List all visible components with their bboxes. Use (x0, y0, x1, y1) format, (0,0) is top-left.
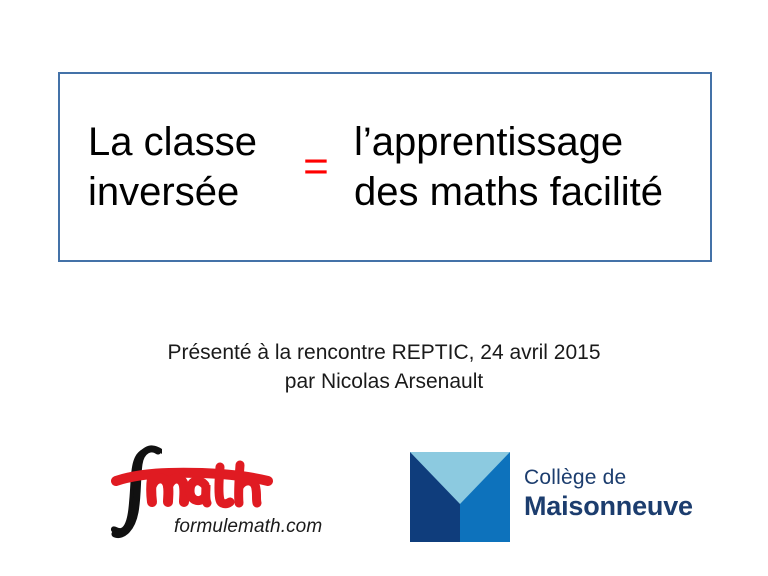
presentation-credit: Présenté à la rencontre REPTIC, 24 avril… (0, 338, 768, 396)
maisonneuve-line-2: Maisonneuve (524, 491, 724, 522)
equation-left-term: La classe inversée (88, 117, 288, 217)
formulemath-logo: formulemath.com (110, 445, 350, 560)
maisonneuve-line-1: Collège de (524, 465, 724, 491)
formulemath-url-label: formulemath.com (174, 515, 322, 539)
logo-row: formulemath.com Collège de Maisonneuve (0, 440, 768, 565)
equals-sign: = (288, 142, 344, 192)
maisonneuve-mark-icon (410, 452, 510, 542)
maisonneuve-wordmark: Collège de Maisonneuve (524, 465, 724, 522)
slide-canvas: La classe inversée = l’apprentissage des… (0, 0, 768, 576)
title-equation-box: La classe inversée = l’apprentissage des… (58, 72, 712, 262)
maisonneuve-logo: Collège de Maisonneuve (410, 452, 720, 552)
equation-row: La classe inversée = l’apprentissage des… (60, 74, 710, 260)
equation-right-term: l’apprentissage des maths facilité (354, 117, 663, 217)
